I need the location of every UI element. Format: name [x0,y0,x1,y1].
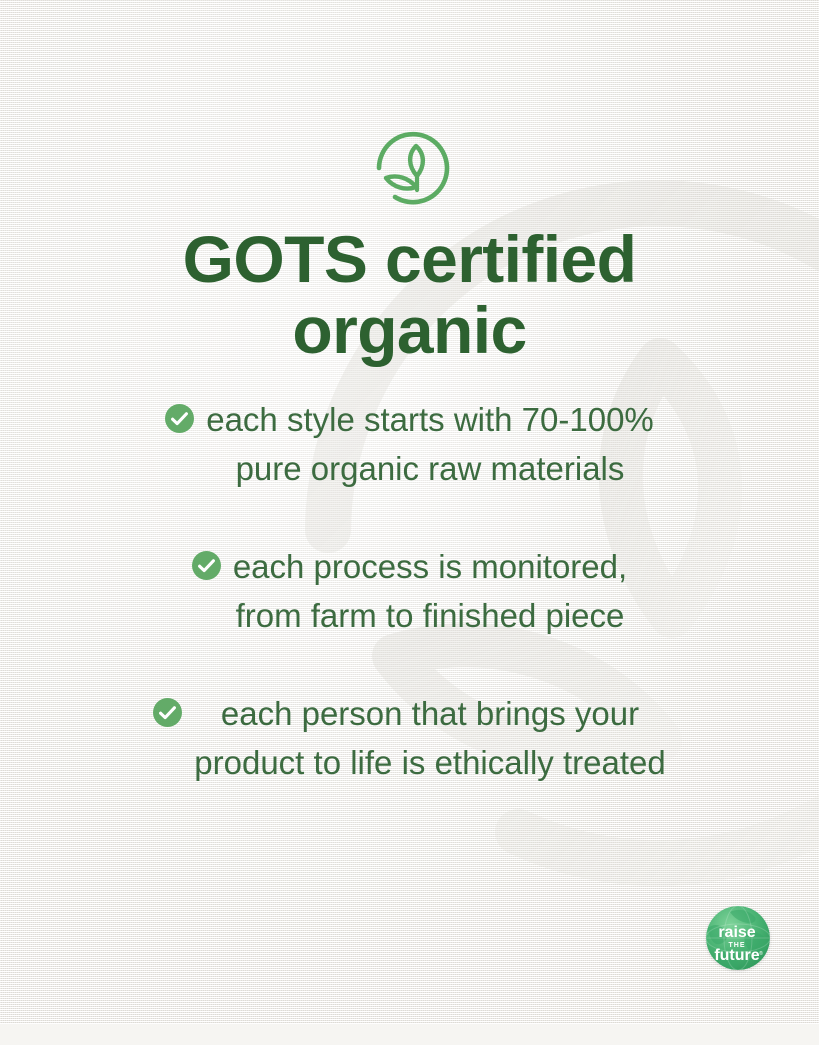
raise-the-future-globe-logo[interactable]: raise THE future ® [706,906,770,970]
claims-list: each style starts with 70-100% pure orga… [0,396,819,787]
check-circle-icon [153,698,182,727]
page-title-line-2: organic [60,297,759,364]
poster-content: GOTS certified organic each style starts… [0,0,819,1024]
svg-text:®: ® [759,950,763,957]
brandmark [0,116,819,208]
list-item-line-1: each style starts with 70-100% [206,396,654,445]
list-item: each style starts with 70-100% pure orga… [0,396,819,493]
check-circle-icon [165,404,194,433]
list-item-line-2: from farm to finished piece [233,592,627,641]
list-item-text: each person that brings your product to … [194,690,665,787]
list-item: each person that brings your product to … [0,690,819,787]
list-item-line-2: product to life is ethically treated [194,739,665,788]
list-item: each process is monitored, from farm to … [0,543,819,640]
list-item-line-1: each person that brings your [194,690,665,739]
page-title-line-1: GOTS certified [60,226,759,293]
svg-text:future: future [714,947,759,964]
page-title: GOTS certified organic [60,226,759,365]
leaf-sprout-circle-icon [367,116,453,208]
svg-text:raise: raise [718,924,755,941]
check-circle-icon [192,551,221,580]
list-item-text: each style starts with 70-100% pure orga… [206,396,654,493]
list-item-line-2: pure organic raw materials [206,445,654,494]
list-item-line-1: each process is monitored, [233,543,627,592]
list-item-text: each process is monitored, from farm to … [233,543,627,640]
